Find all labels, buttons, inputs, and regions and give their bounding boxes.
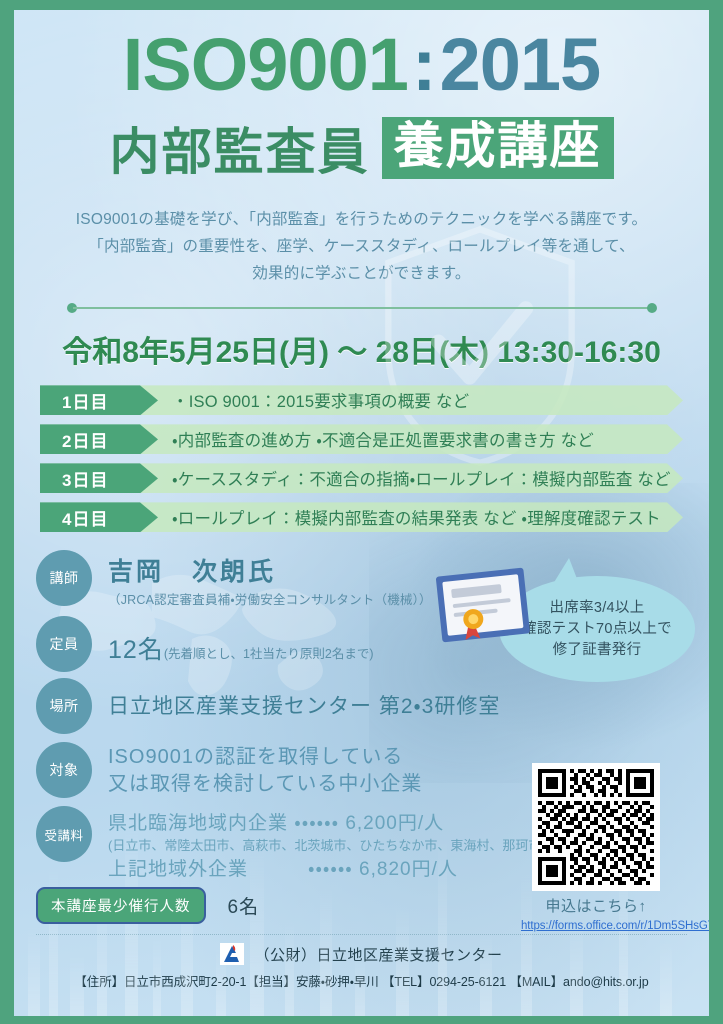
capacity-number: 12名 <box>108 636 164 664</box>
schedule-row: 3日目 ・ケーススタディ：不適合の指摘・ロールプレイ：模擬内部監査 など <box>40 463 683 493</box>
application-qr-block[interactable]: 申込はこちら↑ https://forms.office.com/r/1Dm5S… <box>521 763 671 934</box>
venue-text: 日立地区産業支援センター 第2・3研修室 <box>108 680 500 720</box>
divider-dot-right <box>647 303 657 313</box>
application-caption: 申込はこちら↑ <box>521 895 671 916</box>
minimum-enrollment-badge: 本講座最少催行人数 <box>36 887 206 924</box>
course-date: 令和8年5月25日(月) 〜 28日(木) 13:30-16:30 <box>14 327 709 371</box>
schedule-day-label: 2日目 <box>40 424 158 454</box>
organization-logo-icon <box>220 943 244 965</box>
footer-organization-row: （公財）日立地区産業支援センター <box>14 943 709 965</box>
instructor-name: 吉岡 次朗氏 <box>108 552 432 588</box>
subtitle-block: 内部監査員 養成講座 <box>14 112 709 184</box>
schedule-day-content: ・ロールプレイ：模擬内部監査の結果発表 など ・理解度確認テスト <box>158 502 683 532</box>
detail-row-instructor: 講師 吉岡 次朗氏 （JRCA認定審査員補・労働安全コンサルタント（機械）） <box>36 550 687 608</box>
target-line-2: 又は取得を検討している中小企業 <box>108 771 422 798</box>
application-url-link[interactable]: https://forms.office.com/r/1Dm5SHsGTa <box>521 920 709 932</box>
schedule-row: 4日目 ・ロールプレイ：模擬内部監査の結果発表 など ・理解度確認テスト <box>40 502 683 532</box>
subtitle-plain: 内部監査員 <box>110 112 370 184</box>
title-year: 2015 <box>440 23 601 106</box>
poster: ISO9001:2015 内部監査員 養成講座 ISO9001の基礎を学び、「内… <box>0 0 723 1024</box>
title-colon: : <box>408 23 440 106</box>
schedule-row: 2日目 ・内部監査の進め方 ・不適合是正処置要求書の書き方 など <box>40 424 683 454</box>
detail-label-instructor: 講師 <box>36 550 92 606</box>
schedule-row: 1日目 ・ISO 9001：2015要求事項の概要 など <box>40 385 683 415</box>
title-block: ISO9001:2015 内部監査員 養成講座 <box>14 10 709 184</box>
divider-bar <box>73 307 651 309</box>
schedule-day-label: 1日目 <box>40 385 158 415</box>
detail-body-instructor: 吉岡 次朗氏 （JRCA認定審査員補・労働安全コンサルタント（機械）） <box>92 550 432 608</box>
divider <box>67 303 657 313</box>
instructor-qualification: （JRCA認定審査員補・労働安全コンサルタント（機械）） <box>108 589 432 608</box>
subtitle-boxed: 養成講座 <box>382 117 614 179</box>
schedule-day-content: ・ISO 9001：2015要求事項の概要 など <box>158 385 683 415</box>
footer-separator <box>36 934 687 935</box>
poster-canvas: ISO9001:2015 内部監査員 養成講座 ISO9001の基礎を学び、「内… <box>14 10 709 1016</box>
lead-paragraph: ISO9001の基礎を学び、「内部監査」を行うためのテクニックを学べる講座です。… <box>14 206 709 287</box>
detail-body-fee: 県北臨海地域内企業 ・・・・・・ 6,200円/人 (日立市、常陸太田市、高萩市… <box>92 806 546 881</box>
minimum-enrollment-value: 6名 <box>228 892 260 919</box>
schedule-list: 1日目 ・ISO 9001：2015要求事項の概要 など 2日目 ・内部監査の進… <box>40 385 683 532</box>
detail-label-fee: 受講料 <box>36 806 92 862</box>
detail-body-capacity: 12名(先着順とし、1社当たり原則2名まで) <box>92 616 374 666</box>
footer-contact: 【住所】日立市西成沢町2-20-1【担当】安藤・砂押・早川 【TEL】0294-… <box>14 971 709 990</box>
detail-row-capacity: 定員 12名(先着順とし、1社当たり原則2名まで) <box>36 616 687 672</box>
schedule-day-content: ・ケーススタディ：不適合の指摘・ロールプレイ：模擬内部監査 など <box>158 463 683 493</box>
qr-code[interactable] <box>532 763 660 891</box>
schedule-day-label: 3日目 <box>40 463 158 493</box>
schedule-day-label: 4日目 <box>40 502 158 532</box>
detail-label-target: 対象 <box>36 742 92 798</box>
title-standard: ISO9001 <box>123 23 408 106</box>
bottom-row: 本講座最少催行人数 6名 <box>36 887 687 924</box>
detail-body-venue: 日立地区産業支援センター 第2・3研修室 <box>92 678 500 720</box>
detail-body-target: ISO9001の認証を取得している 又は取得を検討している中小企業 <box>92 742 422 798</box>
page-title: ISO9001:2015 <box>14 28 709 102</box>
detail-label-venue: 場所 <box>36 678 92 734</box>
lead-line-2: 「内部監査」の重要性を、座学、ケーススタディ、ロールプレイ等を通して、 <box>14 233 709 260</box>
detail-row-venue: 場所 日立地区産業支援センター 第2・3研修室 <box>36 678 687 734</box>
fee-line-1: 県北臨海地域内企業 ・・・・・・ 6,200円/人 <box>108 808 546 835</box>
footer: （公財）日立地区産業支援センター 【住所】日立市西成沢町2-20-1【担当】安藤… <box>14 943 709 990</box>
schedule-day-content: ・内部監査の進め方 ・不適合是正処置要求書の書き方 など <box>158 424 683 454</box>
footer-organization-name: （公財）日立地区産業支援センター <box>254 944 502 965</box>
target-line-1: ISO9001の認証を取得している <box>108 744 422 771</box>
fee-area-note: (日立市、常陸太田市、高萩市、北茨城市、ひたちなか市、東海村、那珂市) <box>108 835 546 854</box>
lead-line-1: ISO9001の基礎を学び、「内部監査」を行うためのテクニックを学べる講座です。 <box>14 206 709 233</box>
capacity-note: (先着順とし、1社当たり原則2名まで) <box>164 647 374 661</box>
lead-line-3: 効果的に学ぶことができます。 <box>14 260 709 287</box>
fee-line-2: 上記地域外企業 ・・・・・・ 6,820円/人 <box>108 854 546 881</box>
detail-label-capacity: 定員 <box>36 616 92 672</box>
